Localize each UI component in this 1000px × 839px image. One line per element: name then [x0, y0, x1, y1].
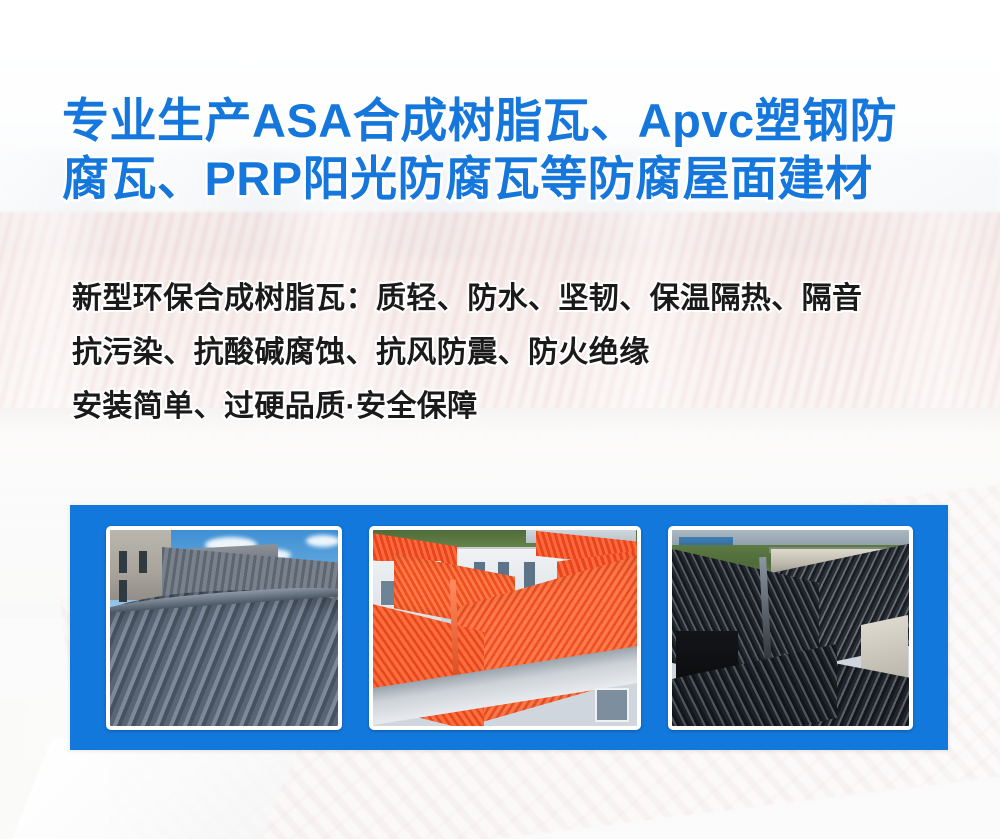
subheadline: 新型环保合成树脂瓦：质轻、防水、坚韧、保温隔热、隔音 抗污染、抗酸碱腐蚀、抗风防… — [72, 272, 962, 434]
black-resin-tile-roof-photo[interactable] — [668, 526, 913, 730]
red-resin-tile-roof-photo[interactable] — [369, 526, 641, 730]
photo1-window — [119, 551, 127, 573]
photo1-window — [139, 551, 147, 573]
photo-gallery-panel — [70, 505, 948, 750]
photo1-window — [119, 580, 127, 602]
subheadline-line-1: 新型环保合成树脂瓦：质轻、防水、坚韧、保温隔热、隔音 — [72, 272, 962, 326]
headline-line-1: 专业生产ASA合成树脂瓦、Apvc塑钢防 — [62, 92, 952, 150]
photo1-main-tile-roof — [110, 590, 338, 725]
subheadline-line-3: 安装简单、过硬品质·安全保障 — [72, 380, 962, 434]
product-promo-banner: 专业生产ASA合成树脂瓦、Apvc塑钢防 腐瓦、PRP阳光防腐瓦等防腐屋面建材 … — [0, 0, 1000, 839]
grey-resin-tile-roof-photo[interactable] — [106, 526, 342, 730]
subheadline-line-2: 抗污染、抗酸碱腐蚀、抗风防震、防火绝缘 — [72, 326, 962, 380]
headline-line-2: 腐瓦、PRP阳光防腐瓦等防腐屋面建材 — [62, 150, 952, 208]
photo2-window — [595, 688, 629, 722]
headline: 专业生产ASA合成树脂瓦、Apvc塑钢防 腐瓦、PRP阳光防腐瓦等防腐屋面建材 — [62, 92, 952, 208]
